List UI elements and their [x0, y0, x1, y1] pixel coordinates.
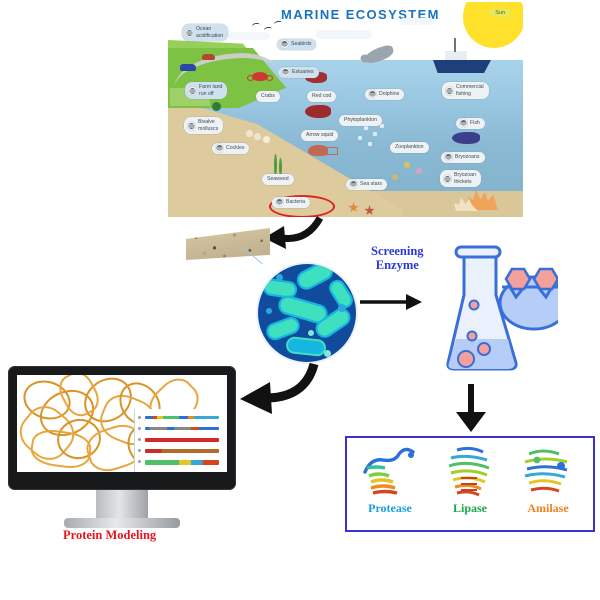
ecosystem-label-red-cod: Red cod — [307, 91, 336, 102]
ecosystem-label-text: Oceanacidification — [196, 26, 223, 39]
sun-label: Sun — [489, 9, 511, 17]
ecosystem-label-seaweed: Seaweed — [262, 174, 294, 185]
ecosystem-label-text: Arrow squid — [306, 132, 333, 138]
ecosystem-label-text: Estuaries — [292, 69, 314, 75]
label-marker-icon — [368, 90, 377, 99]
ecosystem-label-bacteria: Bacteria — [272, 197, 310, 208]
seaweed-icon — [274, 154, 277, 176]
amilase-structure-icon — [515, 442, 581, 500]
ecosystem-label-text: Fish — [470, 120, 480, 126]
monitor-bezel — [8, 366, 236, 490]
ecosystem-label-bivalve-molluscs: Bivalvemolluscs — [184, 117, 223, 134]
ecosystem-label-text: Sea stars — [360, 181, 382, 187]
cloud-icon — [400, 18, 434, 25]
enzyme-name: Amilase — [511, 501, 585, 516]
label-marker-icon — [280, 40, 289, 49]
bacteria-rod — [264, 280, 296, 297]
ecosystem-label-fish: Fish — [456, 118, 485, 129]
fish-icon — [452, 132, 480, 144]
lipase-structure-icon — [437, 442, 503, 500]
ecosystem-label-text: Bacteria — [286, 199, 305, 205]
arrow-enzymes-to-monitor — [232, 358, 322, 414]
label-marker-icon — [281, 68, 290, 77]
plankton-icon — [364, 126, 368, 130]
label-marker-icon — [349, 180, 358, 189]
label-marker-icon — [275, 198, 284, 207]
plankton-icon — [358, 136, 362, 140]
ecosystem-label-crabs: Crabs — [256, 91, 280, 102]
cloud-icon — [228, 32, 270, 40]
bacteria-rod — [296, 262, 333, 290]
ecosystem-label-bryozoan-thickets: Bryozoanthickets — [440, 170, 481, 187]
ecosystem-label-text: Farm landrun off — [199, 84, 222, 97]
marine-ecosystem-panel: Sun MARINE ECOSYSTEM OceanacidificationS… — [168, 2, 523, 217]
bacteria-magnified-view — [256, 262, 358, 364]
monitor-stand-base — [64, 518, 180, 528]
ecosystem-label-text: Bryozoanthickets — [454, 172, 476, 185]
ecosystem-label-zooplankton: Zooplankton — [390, 142, 429, 153]
ecosystem-label-phytoplankton: Phytoplankton — [339, 115, 382, 126]
shell-icon — [263, 136, 270, 143]
label-marker-icon — [185, 28, 194, 37]
zooplankton-icon — [404, 162, 410, 168]
ecosystem-label-estuaries: Estuaries — [278, 67, 319, 78]
arrow-ecosystem-to-sediment — [262, 214, 326, 254]
monitor-screen — [17, 375, 227, 472]
label-marker-icon — [459, 119, 468, 128]
flask-icon — [446, 243, 558, 371]
label-marker-icon — [444, 153, 453, 162]
zooplankton-icon — [416, 168, 422, 174]
ecosystem-label-text: Cockles — [226, 145, 244, 151]
ecosystem-label-cockles: Cockles — [212, 143, 249, 154]
ecosystem-label-text: Crabs — [261, 93, 275, 99]
ecosystem-label-commercial-fishing: Commercialfishing — [442, 82, 489, 99]
ecosystem-label-sea-stars: Sea stars — [346, 179, 387, 190]
bacteria-rod — [279, 296, 327, 323]
bacteria-dot — [324, 350, 331, 357]
plankton-icon — [373, 132, 377, 136]
bacteria-dot — [338, 304, 346, 312]
bacteria-dot — [266, 308, 272, 314]
ecosystem-label-farm-land-run-off: Farm landrun off — [185, 82, 227, 99]
enzyme-results-box: Protease Lipase — [345, 436, 595, 532]
arrow-bacteria-to-flask — [358, 288, 424, 316]
plankton-icon — [380, 124, 384, 128]
label-marker-icon — [187, 121, 196, 130]
arrow-flask-to-enzymes — [450, 382, 492, 434]
shell-icon — [246, 130, 253, 137]
label-marker-icon — [215, 144, 224, 153]
crab-icon — [252, 72, 268, 81]
ecosystem-label-text: Red cod — [312, 93, 331, 99]
sediment-sample-image — [186, 228, 270, 260]
label-marker-icon — [188, 86, 197, 95]
ecosystem-label-text: Seaweed — [267, 176, 289, 182]
ecosystem-label-ocean-acidification: Oceanacidification — [182, 24, 228, 41]
bacteria-dot — [308, 330, 314, 336]
ecosystem-label-text: Dolphins — [379, 91, 399, 97]
ecosystem-label-text: Phytoplankton — [344, 117, 377, 123]
ecosystem-label-text: Bryozoans — [455, 154, 480, 160]
bacteria-rod — [287, 338, 324, 355]
bacteria-rod — [267, 317, 300, 339]
arrow-squid-icon — [308, 145, 328, 156]
truck-icon — [202, 54, 215, 60]
ecosystem-label-bryozoans: Bryozoans — [441, 152, 485, 163]
bacteria-dot — [276, 274, 283, 281]
protein-modeling-monitor — [8, 366, 236, 526]
enzyme-name: Protease — [353, 501, 427, 516]
sequence-alignment-panel — [135, 409, 227, 472]
enzyme-item: Protease — [353, 442, 427, 526]
screening-enzyme-label: ScreeningEnzyme — [371, 244, 424, 273]
ecosystem-label-dolphins: Dolphins — [365, 89, 404, 100]
protease-structure-icon — [357, 442, 423, 500]
ecosystem-label-text: Seabirds — [291, 41, 311, 47]
ecosystem-label-seabirds: Seabirds — [277, 39, 316, 50]
label-marker-icon — [445, 86, 454, 95]
red-cod-icon — [305, 105, 331, 118]
enzyme-item: Lipase — [433, 442, 507, 526]
ecosystem-label-text: Bivalvemolluscs — [198, 119, 218, 132]
ecosystem-label-text: Commercialfishing — [456, 84, 484, 97]
shell-icon — [254, 133, 261, 140]
zooplankton-icon — [392, 174, 398, 180]
protein-modeling-label: Protein Modeling — [63, 528, 156, 543]
ecosystem-label-arrow-squid: Arrow squid — [301, 130, 338, 141]
ecosystem-label-text: Zooplankton — [395, 144, 424, 150]
enzyme-item: Amilase — [511, 442, 585, 526]
cloud-icon — [316, 30, 372, 39]
car-icon — [180, 64, 196, 71]
label-marker-icon — [443, 174, 452, 183]
tree-icon — [212, 102, 221, 111]
plankton-icon — [368, 142, 372, 146]
enzyme-name: Lipase — [433, 501, 507, 516]
